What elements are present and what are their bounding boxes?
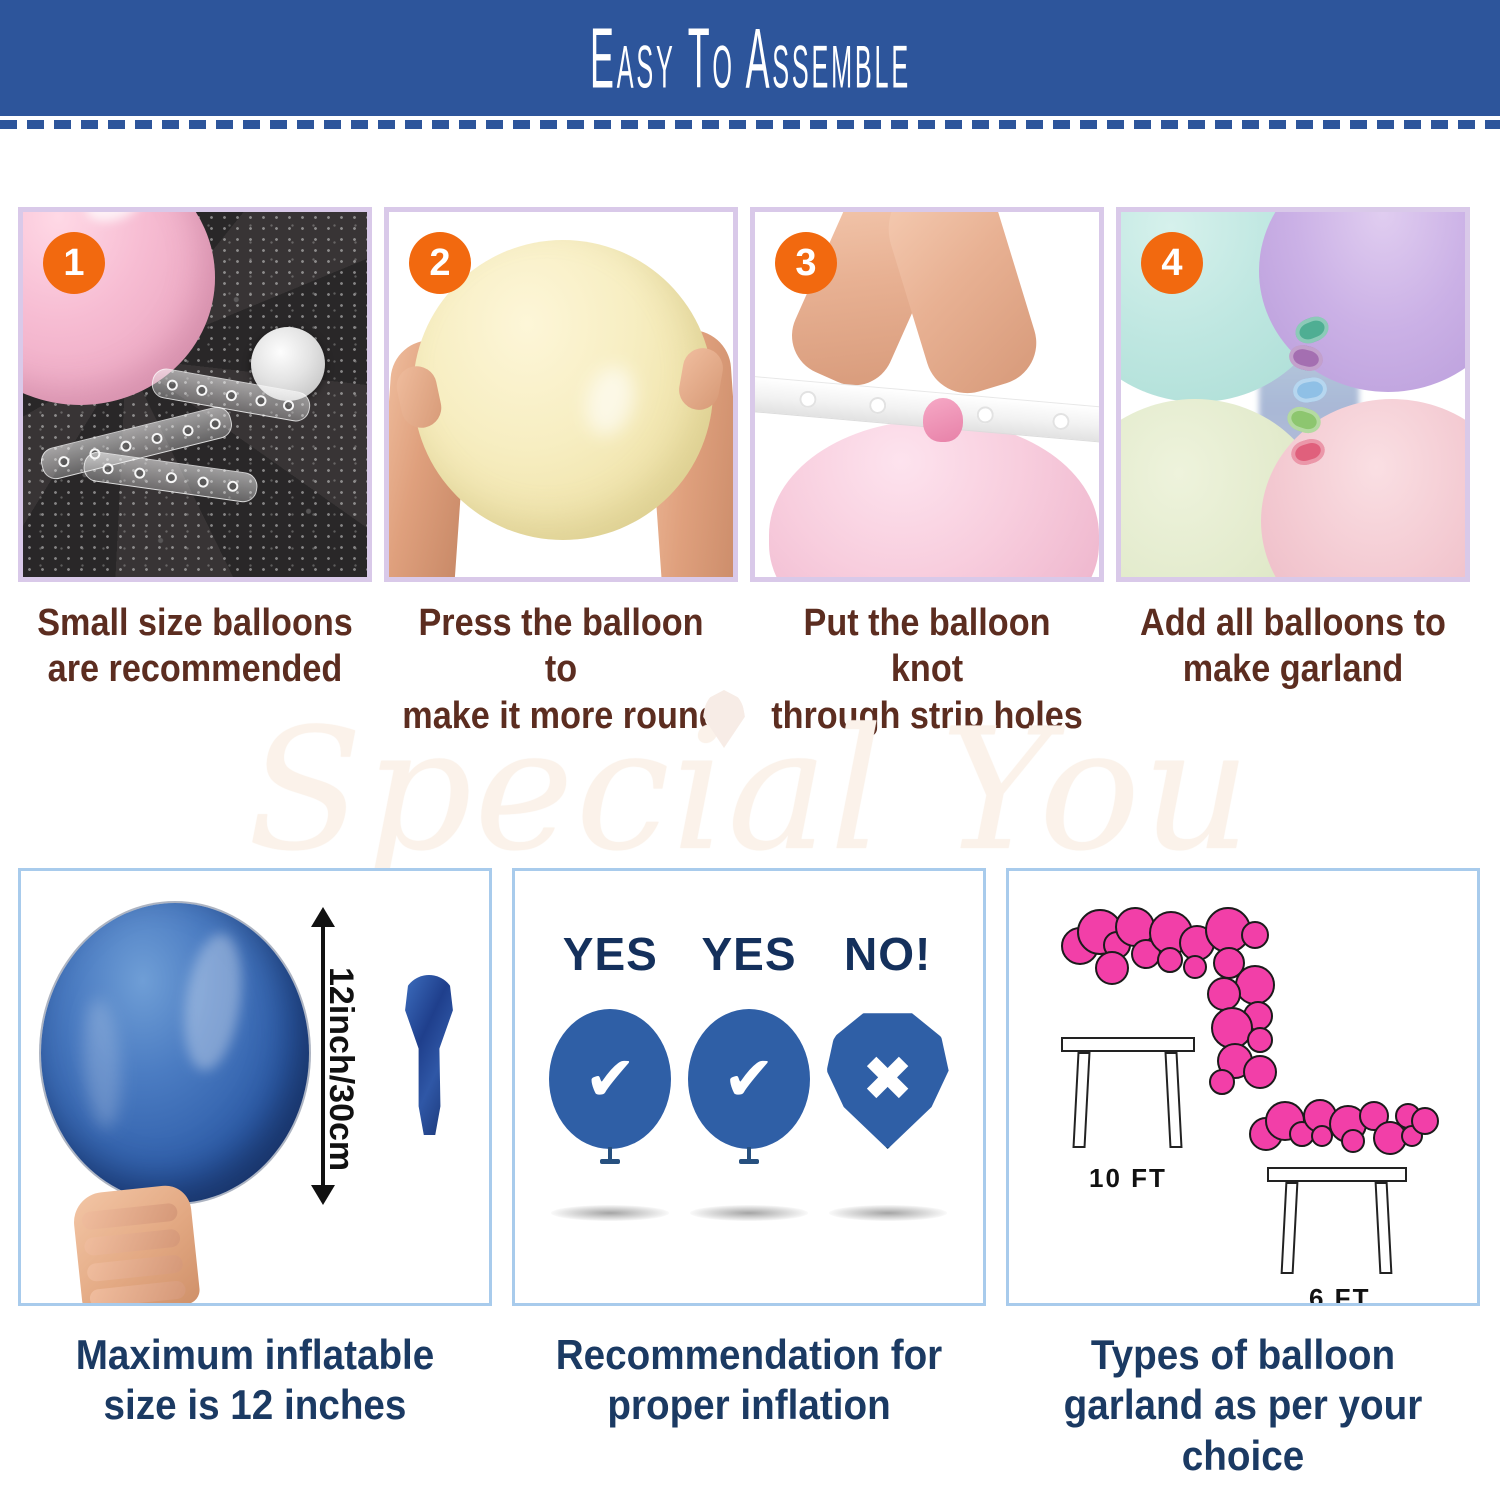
panel-max-size: 12inch/30cm <box>18 868 492 1306</box>
balloon-knot-icon <box>747 1147 751 1161</box>
shadow-ellipse <box>829 1205 947 1221</box>
step-caption-4-line1: Add all balloons to <box>1134 600 1453 646</box>
inflation-option-2: YES ✔ <box>683 927 815 1221</box>
step-caption-2-line2: make it more round <box>402 693 721 739</box>
balloon-check-icon: ✔ <box>688 1009 810 1149</box>
step-number-badge-1: 1 <box>43 232 105 294</box>
bottom-caption-3-line1: Types of balloon <box>1025 1330 1461 1380</box>
step-panel-2: 2 <box>384 207 738 582</box>
step-panel-1: 1 <box>18 207 372 582</box>
step-caption-1: Small size balloons are recommended <box>36 600 355 739</box>
bottom-captions: Maximum inflatable size is 12 inches Rec… <box>18 1330 1482 1481</box>
step-number-badge-3: 3 <box>775 232 837 294</box>
bottom-caption-max-size: Maximum inflatable size is 12 inches <box>37 1330 473 1481</box>
table-size-label-10ft: 10 FT <box>1089 1163 1167 1194</box>
balloon-cross-icon: ✖ <box>827 1009 949 1149</box>
bottom-panels: 12inch/30cm YES ✔ YES ✔ <box>18 868 1482 1306</box>
shadow-ellipse <box>690 1205 808 1221</box>
bottom-caption-1-line1: Maximum inflatable <box>37 1330 473 1380</box>
bottom-caption-1-line2: size is 12 inches <box>37 1380 473 1430</box>
dashed-divider <box>0 120 1500 129</box>
dimension-label: 12inch/30cm <box>321 967 360 1171</box>
bottom-caption-3-line2: garland as per your choice <box>1025 1380 1461 1481</box>
balloon-knot-icon <box>923 398 963 442</box>
bottom-caption-garland: Types of balloon garland as per your cho… <box>1025 1330 1461 1481</box>
uninflated-balloon-icon <box>403 975 455 1135</box>
balloon-knot-icon <box>608 1147 612 1161</box>
header-banner: Easy To Assemble <box>0 0 1500 116</box>
check-icon: ✔ <box>584 1048 636 1110</box>
step-panels: 1 2 <box>18 207 1482 582</box>
panel-garland-types: 10 FT 6 FT <box>1006 868 1480 1306</box>
panel-proper-inflation: YES ✔ YES ✔ NO! <box>512 868 986 1306</box>
balloon-knot-icon <box>886 1147 890 1161</box>
cross-icon: ✖ <box>862 1048 914 1110</box>
step-number-badge-2: 2 <box>409 232 471 294</box>
bottom-caption-2-line1: Recommendation for <box>531 1330 967 1380</box>
step-caption-3: Put the balloon knot through strip holes <box>768 600 1087 739</box>
page-title: Easy To Assemble <box>590 8 911 107</box>
bottom-caption-2-line2: proper inflation <box>531 1380 967 1430</box>
garland-straight <box>1249 1099 1439 1159</box>
inflation-option-3: NO! ✖ <box>822 927 954 1221</box>
bottom-caption-inflation: Recommendation for proper inflation <box>531 1330 967 1481</box>
option-label-yes: YES <box>563 927 658 981</box>
step-number-badge-4: 4 <box>1141 232 1203 294</box>
table-10ft <box>1061 1037 1195 1149</box>
step-caption-4: Add all balloons to make garland <box>1134 600 1453 739</box>
table-6ft <box>1267 1167 1407 1279</box>
step-panel-3: 3 <box>750 207 1104 582</box>
step-panel-4: 4 <box>1116 207 1470 582</box>
blue-balloon-icon <box>41 903 309 1203</box>
step-caption-1-line1: Small size balloons <box>36 600 355 646</box>
infographic-page: Easy To Assemble <box>0 0 1500 1500</box>
shadow-ellipse <box>551 1205 669 1221</box>
step-caption-2: Press the balloon to make it more round <box>402 600 721 739</box>
step-caption-3-line2: through strip holes <box>768 693 1087 739</box>
option-label-no: NO! <box>844 927 931 981</box>
check-icon: ✔ <box>723 1048 775 1110</box>
step-caption-3-line1: Put the balloon knot <box>768 600 1087 693</box>
inflation-option-1: YES ✔ <box>544 927 676 1221</box>
table-size-label-6ft: 6 FT <box>1309 1283 1370 1306</box>
option-label-yes: YES <box>701 927 796 981</box>
step-caption-1-line2: are recommended <box>36 646 355 692</box>
balloon-check-icon: ✔ <box>549 1009 671 1149</box>
step-caption-2-line1: Press the balloon to <box>402 600 721 693</box>
step-captions: Small size balloons are recommended Pres… <box>18 600 1482 739</box>
step-caption-4-line2: make garland <box>1134 646 1453 692</box>
hand-icon <box>71 1183 201 1306</box>
